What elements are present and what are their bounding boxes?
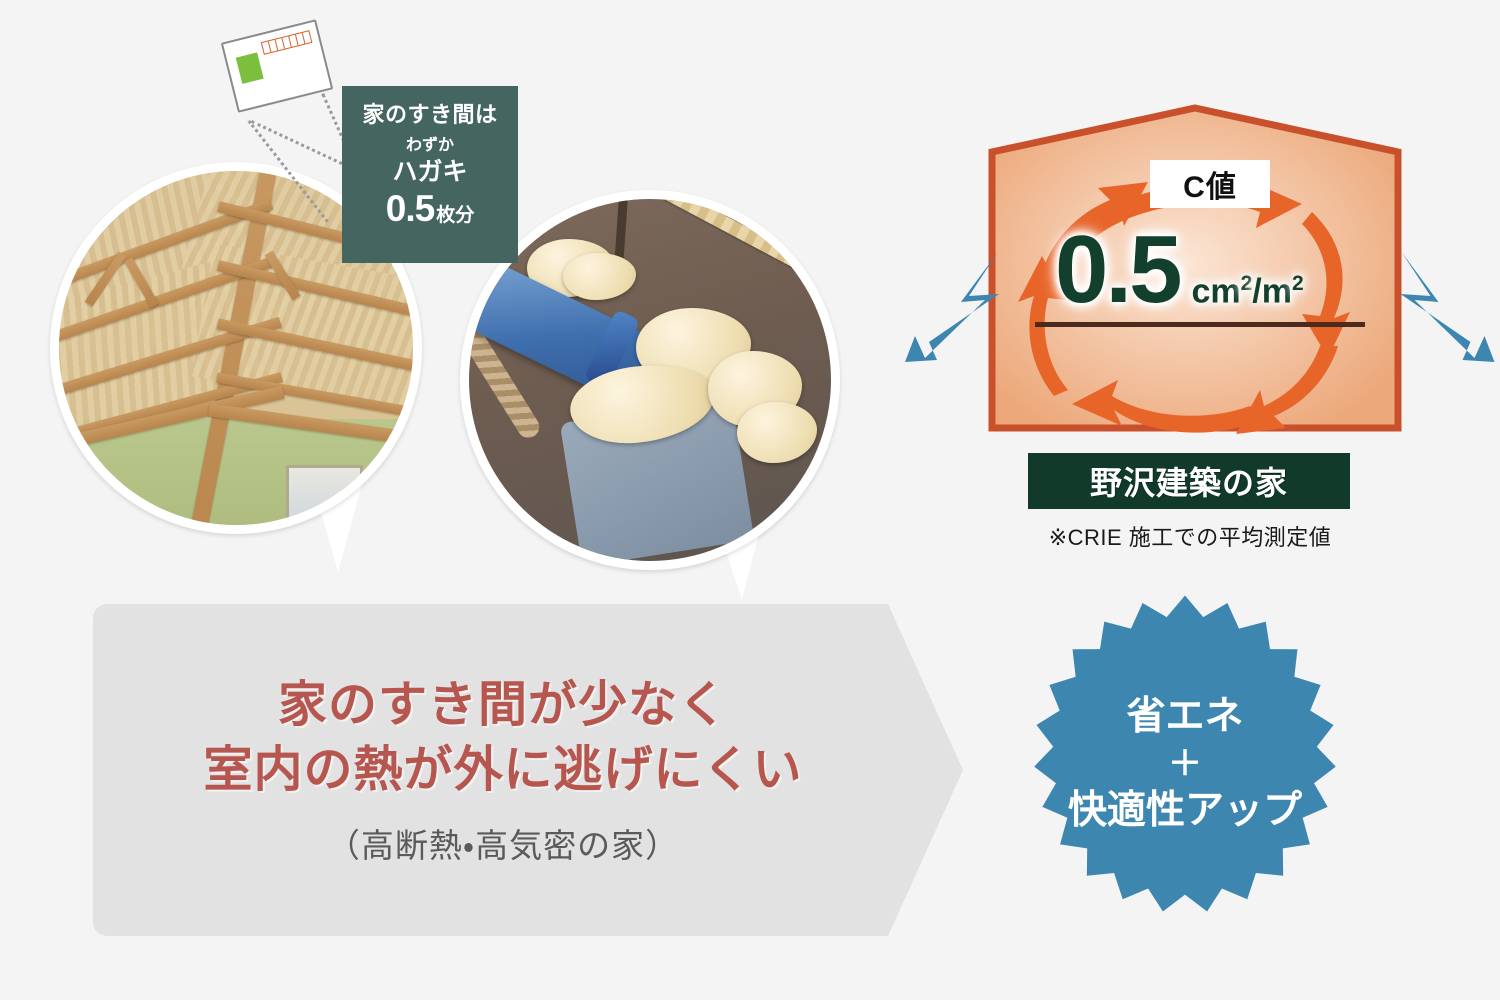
postcard-icon [221, 19, 334, 113]
c-value-underline [1035, 322, 1365, 327]
starburst-line-1: 省エネ [1126, 693, 1243, 742]
brand-note: ※CRIE 施工での平均測定値 [1020, 520, 1360, 552]
callout-value-row: 0.5枚分 [342, 190, 518, 227]
hagaki-callout-box: 家のすき間は わずか ハガキ 0.5枚分 [342, 86, 518, 263]
starburst-line-2: 快適性アップ [1068, 787, 1302, 836]
brand-label-text: 野沢建築の家 [1090, 458, 1288, 504]
photo-foam-spray [469, 199, 831, 561]
postcard-stamp-icon [236, 52, 264, 84]
summary-subtext: （高断熱・高気密の家） [327, 819, 679, 867]
blue-arrow-right-icon [1388, 250, 1496, 370]
c-value-number-group: 0.5 cm2/m2 [1055, 222, 1304, 318]
callout-line-1: 家のすき間は [342, 103, 518, 127]
starburst-badge-text: 省エネ ＋ 快適性アップ [1000, 592, 1370, 937]
summary-line-2: 室内の熱が外に逃げにくい [203, 738, 802, 803]
callout-value: 0.5 [386, 188, 434, 229]
c-value-label-box: C値 [1150, 160, 1270, 208]
starburst-plus: ＋ [1168, 744, 1202, 785]
callout-line-2: わずか [342, 138, 518, 154]
c-value-unit: cm2/m2 [1191, 273, 1303, 308]
brand-label-box: 野沢建築の家 [1028, 453, 1350, 509]
c-value-number: 0.5 [1055, 222, 1179, 318]
callout-line-3: ハガキ [342, 158, 518, 187]
postcard-address-boxes-icon [261, 30, 313, 55]
infographic-canvas: 家のすき間は わずか ハガキ 0.5枚分 [0, 0, 1500, 1000]
summary-line-1: 家のすき間が少なく [278, 673, 728, 738]
callout-value-suffix: 枚分 [436, 205, 474, 226]
summary-banner-text: 家のすき間が少なく 室内の熱が外に逃げにくい （高断熱・高気密の家） [93, 604, 913, 936]
c-value-label: C値 [1183, 162, 1237, 206]
blue-arrow-left-icon [905, 250, 1010, 370]
